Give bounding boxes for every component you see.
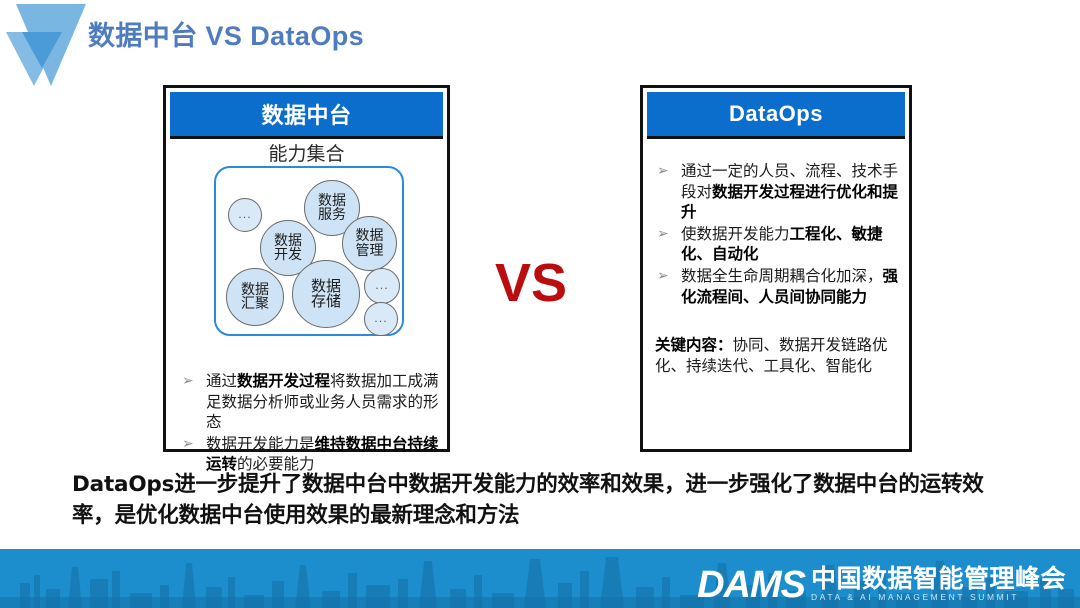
- bullet-item: 通过数据开发过程将数据加工成满足数据分析师或业务人员需求的形态: [180, 371, 439, 433]
- bubble-data-collect: 数据汇聚: [226, 268, 284, 326]
- footer-banner: DAMS 中国数据智能管理峰会 DATA & AI MANAGEMENT SUM…: [0, 549, 1080, 608]
- dams-chinese-block: 中国数据智能管理峰会 DATA & AI MANAGEMENT SUMMIT: [811, 566, 1066, 604]
- right-card-bullet-list: 通过一定的人员、流程、技术手段对数据开发过程进行优化和提升使数据开发能力工程化、…: [655, 161, 899, 308]
- dams-english-tagline: DATA & AI MANAGEMENT SUMMIT: [811, 592, 1019, 602]
- card-dataops: DataOps 通过一定的人员、流程、技术手段对数据开发过程进行优化和提升使数据…: [640, 85, 912, 452]
- keynote-paragraph: 关键内容：协同、数据开发链路优化、持续迭代、工具化、智能化: [655, 335, 899, 377]
- bullet-item: 数据全生命周期耦合化加深，强化流程间、人员间协同能力: [655, 266, 899, 307]
- dams-chinese-name: 中国数据智能管理峰会: [811, 566, 1066, 592]
- card-header-dataops: DataOps: [647, 92, 905, 139]
- left-card-bullet-list: 通过数据开发过程将数据加工成满足数据分析师或业务人员需求的形态数据开发能力是维持…: [180, 371, 439, 476]
- footer-brand: DAMS 中国数据智能管理峰会 DATA & AI MANAGEMENT SUM…: [697, 566, 1066, 604]
- page-title: 数据中台 VS DataOps: [88, 14, 364, 53]
- bubble-ellipsis-top: ...: [228, 198, 262, 232]
- cluster-label: 能力集合: [166, 139, 447, 166]
- bullet-item: 使数据开发能力工程化、敏捷化、自动化: [655, 224, 899, 265]
- cluster-boundary-box: 数据服务数据管理数据开发数据存储数据汇聚.........: [214, 166, 404, 336]
- slide-canvas: 数据中台 VS DataOps 数据中台 能力集合 数据服务数据管理数据开发数据…: [0, 0, 1080, 608]
- card-header-data-midplatform: 数据中台: [170, 92, 443, 139]
- card-body-data-midplatform: 能力集合 数据服务数据管理数据开发数据存储数据汇聚......... 通过数据开…: [166, 139, 447, 449]
- bullet-item: 通过一定的人员、流程、技术手段对数据开发过程进行优化和提升: [655, 161, 899, 223]
- card-body-dataops: 通过一定的人员、流程、技术手段对数据开发过程进行优化和提升使数据开发能力工程化、…: [643, 139, 909, 449]
- bubble-ellipsis-mid: ...: [364, 268, 400, 304]
- bubble-ellipsis-low: ...: [364, 302, 398, 336]
- bubble-data-manage: 数据管理: [342, 216, 397, 271]
- w-triangles-logo-icon: [4, 2, 90, 86]
- bubble-data-store: 数据存储: [292, 260, 360, 328]
- conclusion-text: DataOps进一步提升了数据中台中数据开发能力的效率和效果，进一步强化了数据中…: [72, 470, 1022, 531]
- vs-divider-label: VS: [495, 252, 567, 314]
- bullet-item: 数据开发能力是维持数据中台持续运转的必要能力: [180, 434, 439, 475]
- capability-cluster: 能力集合 数据服务数据管理数据开发数据存储数据汇聚.........: [166, 139, 447, 357]
- card-data-midplatform: 数据中台 能力集合 数据服务数据管理数据开发数据存储数据汇聚......... …: [163, 85, 450, 452]
- dams-wordmark: DAMS: [697, 566, 805, 604]
